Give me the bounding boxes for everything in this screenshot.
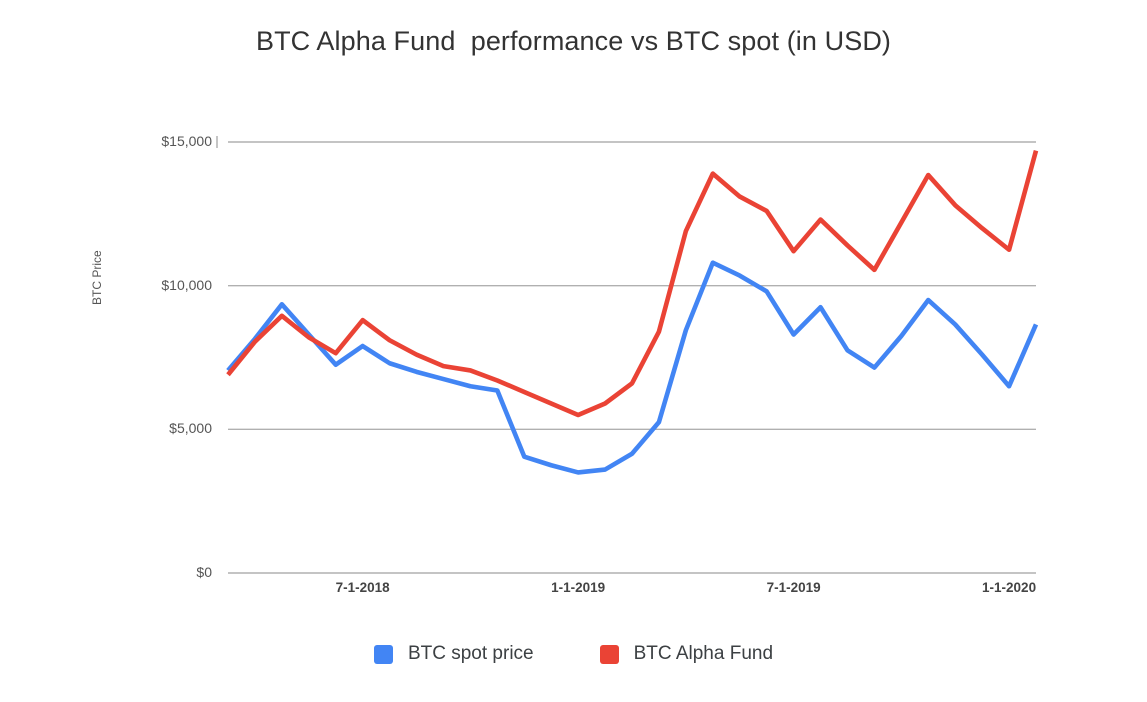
plot-area [0,0,1147,702]
legend-color-swatch [374,645,393,664]
legend-label: BTC spot price [408,643,534,665]
series-line [228,263,1036,473]
chart-legend: BTC spot priceBTC Alpha Fund [0,643,1147,665]
series-line [228,151,1036,415]
line-chart: BTC Alpha Fund performance vs BTC spot (… [0,0,1147,702]
series-lines [228,151,1036,473]
legend-item[interactable]: BTC Alpha Fund [600,643,773,665]
legend-item[interactable]: BTC spot price [374,643,534,665]
legend-label: BTC Alpha Fund [634,643,773,665]
legend-color-swatch [600,645,619,664]
